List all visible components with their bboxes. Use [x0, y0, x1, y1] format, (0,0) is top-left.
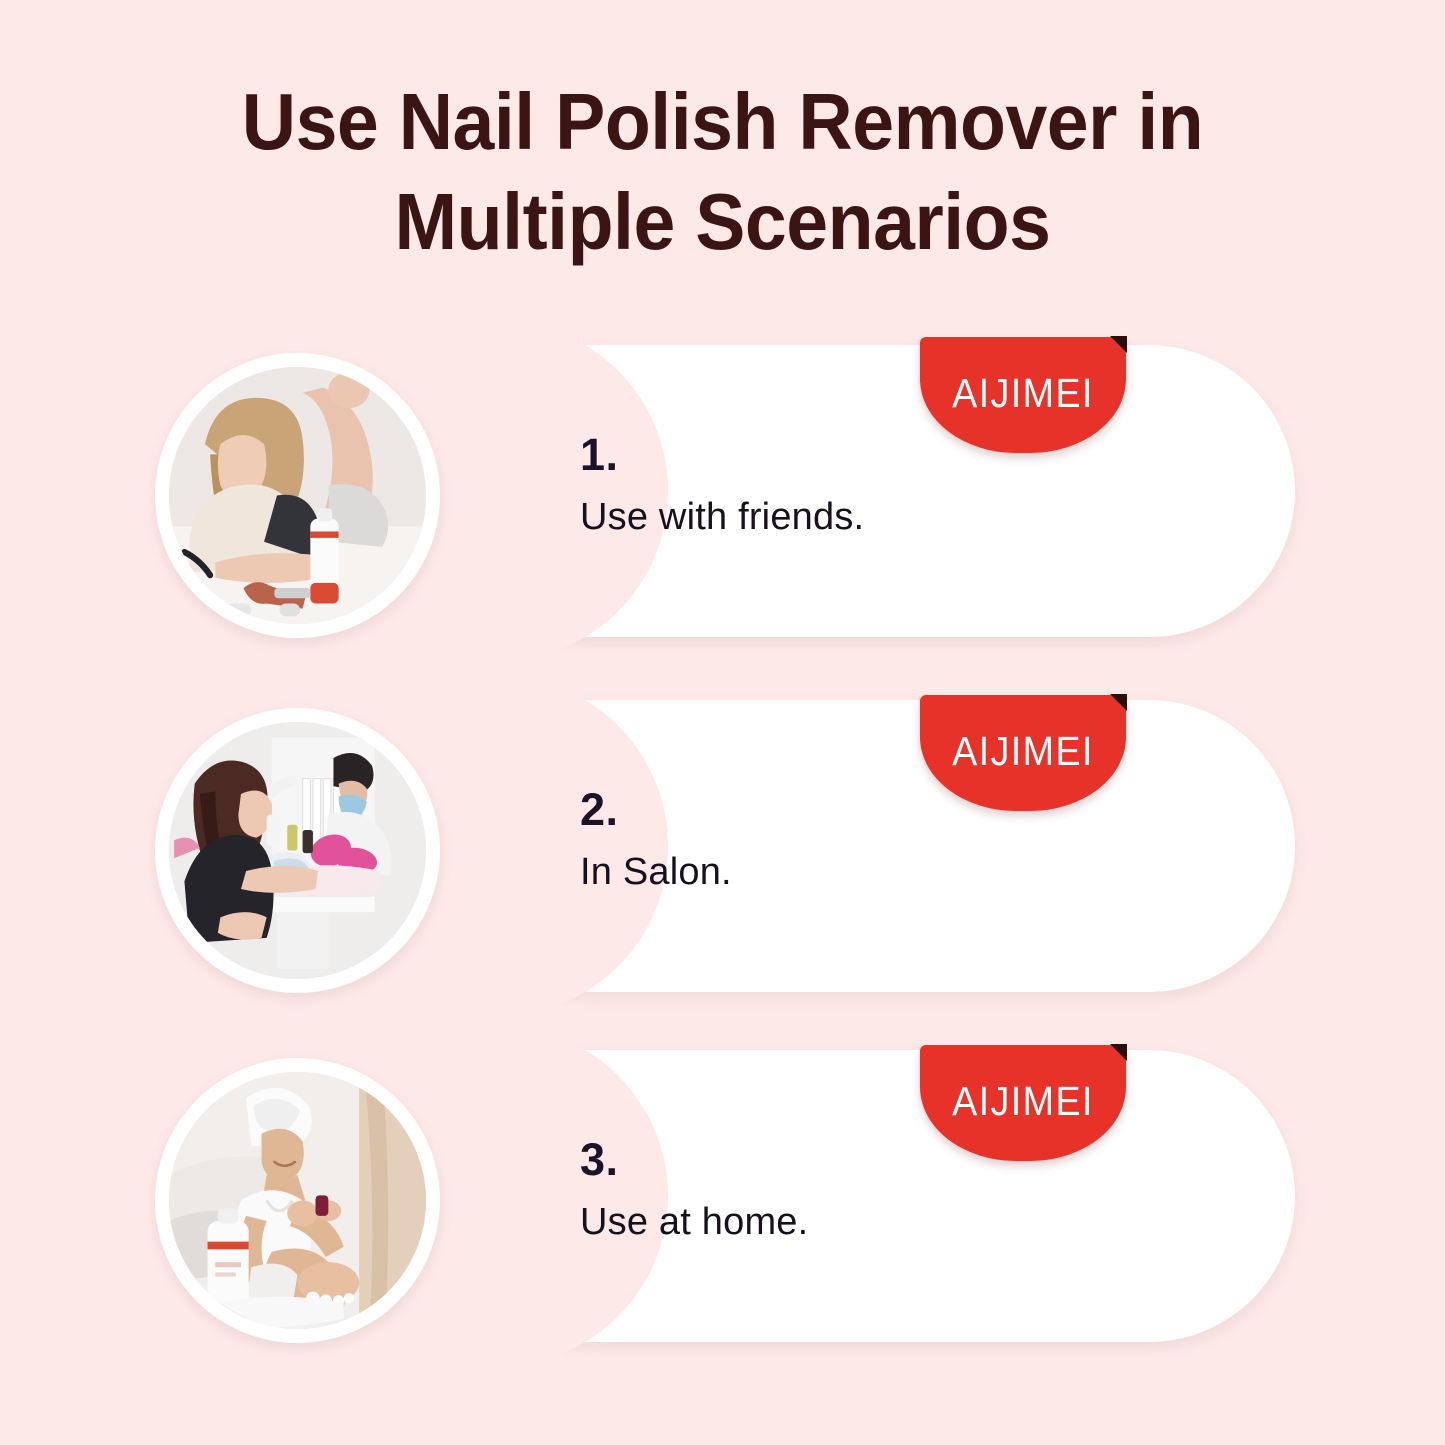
photo-friends-illustration [169, 367, 426, 624]
photo-salon-illustration [169, 722, 426, 979]
step-card-3: 3. Use at home. [445, 1050, 1295, 1342]
brand-badge-3: AIJIMEI [920, 1045, 1126, 1161]
step-text-3: 3. Use at home. [580, 1134, 808, 1248]
step-number: 2. [580, 784, 732, 836]
badge-brand-label: AIJIMEI [928, 729, 1118, 773]
badge-brand-label: AIJIMEI [928, 371, 1118, 415]
step-row-1: 1. Use with friends. [0, 345, 1445, 645]
step-photo-1 [155, 353, 440, 638]
step-text-2: 2. In Salon. [580, 784, 732, 898]
step-description: Use at home. [580, 1196, 808, 1248]
step-number: 3. [580, 1134, 808, 1186]
step-text-1: 1. Use with friends. [580, 429, 864, 543]
step-number: 1. [580, 429, 864, 481]
step-card-1: 1. Use with friends. [445, 345, 1295, 637]
step-row-2: 2. In Salon. [0, 700, 1445, 1000]
steps-list: 1. Use with friends. [0, 0, 1445, 1445]
brand-badge-1: AIJIMEI [920, 337, 1126, 453]
badge-fold-corner-icon [1110, 694, 1127, 711]
photo-friends-image [169, 367, 426, 624]
step-photo-2 [155, 708, 440, 993]
step-photo-3 [155, 1058, 440, 1343]
step-description: In Salon. [580, 846, 732, 898]
photo-home-image [169, 1072, 426, 1329]
brand-badge-2: AIJIMEI [920, 695, 1126, 811]
photo-home-illustration [169, 1072, 426, 1329]
step-row-3: 3. Use at home. [0, 1050, 1445, 1350]
badge-fold-corner-icon [1110, 1044, 1127, 1061]
badge-fold-corner-icon [1110, 336, 1127, 353]
badge-brand-label: AIJIMEI [928, 1079, 1118, 1123]
step-card-2: 2. In Salon. [445, 700, 1295, 992]
photo-salon-image [169, 722, 426, 979]
step-description: Use with friends. [580, 491, 864, 543]
